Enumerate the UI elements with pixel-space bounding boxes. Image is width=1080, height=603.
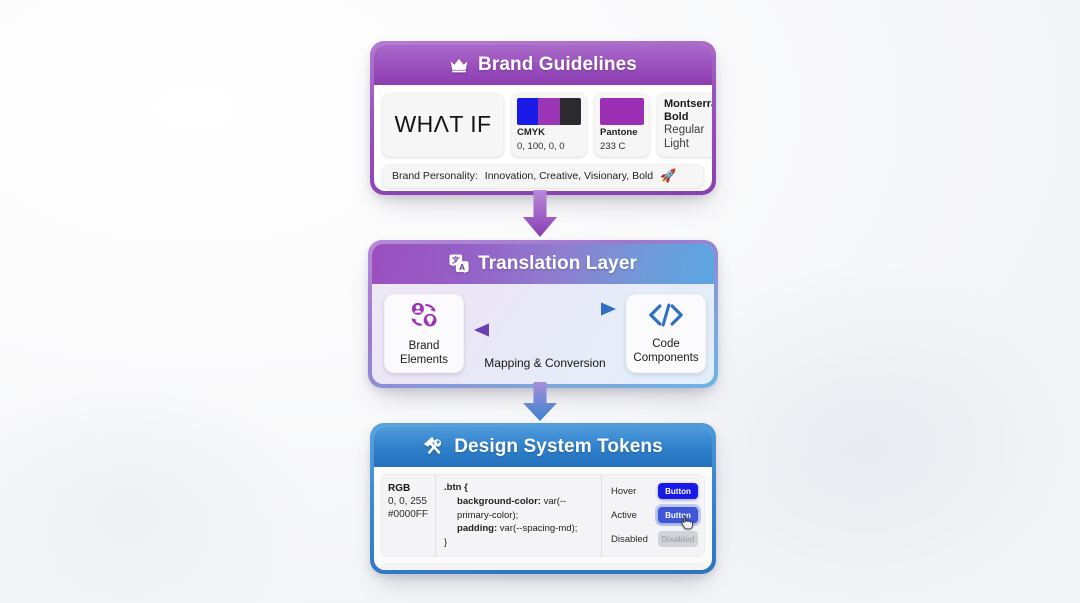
brand-elements-label-line1: Brand: [409, 340, 440, 352]
code-components-label-line2: Components: [633, 352, 698, 364]
css-code-snippet: .btn { background-color: var(--primary-c…: [436, 474, 602, 557]
brand-guidelines-card[interactable]: Brand Guidelines WHΛT IF: [370, 41, 716, 195]
rgb-hex: #0000FF: [388, 508, 428, 521]
state-row-active: Active Button: [611, 507, 698, 523]
cmyk-swatch-tile: CMYK 0, 100, 0, 0: [511, 93, 587, 157]
brand-personality-values: Innovation, Creative, Visionary, Bold: [485, 170, 653, 182]
translation-layer-header: 文 A Translation Layer: [372, 244, 714, 284]
design-system-tokens-card-inner: Design System Tokens RGB 0, 0, 255 #0000…: [374, 427, 712, 570]
brand-personality-row: Brand Personality: Innovation, Creative,…: [382, 164, 704, 188]
brand-elements-node[interactable]: Brand Elements: [384, 294, 464, 373]
code-components-label: Code Components: [633, 338, 698, 365]
brand-logo-text: WHΛT IF: [395, 111, 492, 138]
state-row-disabled: Disabled Disabled: [611, 531, 698, 547]
rocket-icon: 🚀: [660, 168, 676, 184]
spacing-tokens-row: Spacing: xs (4px), sm (8px), md (16px), …: [381, 563, 705, 570]
rgb-value: 0, 0, 255: [388, 495, 428, 508]
logo-triangle-glyph: Λ: [434, 111, 450, 138]
code-line-2: background-color: var(--primary-color);: [444, 495, 593, 523]
code-components-label-line1: Code: [652, 338, 680, 350]
pantone-value: 233 C: [600, 142, 644, 153]
translation-layer-body: Brand Elements: [372, 284, 714, 384]
connector-brand-to-translation: [519, 190, 561, 238]
typography-tile: Montserrat: Bold Regular Light: [657, 93, 712, 157]
brand-guidelines-body: WHΛT IF CMYK 0, 100, 0, 0: [374, 85, 712, 191]
button-active-preview[interactable]: Button: [658, 507, 698, 523]
state-label-active: Active: [611, 510, 651, 521]
pantone-swatch-row: [600, 98, 644, 125]
translation-layer-title: Translation Layer: [478, 253, 637, 275]
logo-part-2: T IF: [449, 111, 491, 137]
cmyk-label: CMYK: [517, 128, 581, 139]
cmyk-value: 0, 100, 0, 0: [517, 142, 581, 153]
brand-assets-row: WHΛT IF CMYK 0, 100, 0, 0: [382, 93, 704, 157]
code-val-padding: var(--spacing-md);: [500, 523, 578, 534]
code-selector: .btn {: [444, 482, 468, 493]
design-system-tokens-body: RGB 0, 0, 255 #0000FF .btn { background-…: [374, 467, 712, 570]
tokens-detail-row: RGB 0, 0, 255 #0000FF .btn { background-…: [381, 474, 705, 557]
cmyk-swatch-black: [560, 98, 581, 125]
bidirectional-arrows: [470, 299, 620, 345]
font-weight-bold: Bold: [664, 111, 712, 124]
crown-icon: [449, 57, 469, 73]
brand-elements-label: Brand Elements: [400, 340, 448, 367]
code-brackets-icon: [648, 302, 684, 333]
button-hover-preview[interactable]: Button: [658, 483, 698, 499]
state-row-hover: Hover Button: [611, 483, 698, 499]
code-components-node[interactable]: Code Components: [626, 294, 706, 373]
button-states-cell: Hover Button Active Button: [602, 474, 705, 557]
diagram-canvas: Brand Guidelines WHΛT IF: [0, 0, 1080, 603]
hammer-and-wrench-icon: [423, 437, 445, 457]
rgb-token-cell: RGB 0, 0, 255 #0000FF: [381, 474, 436, 557]
brand-guidelines-header: Brand Guidelines: [374, 45, 712, 85]
brand-personality-label: Brand Personality:: [392, 170, 478, 182]
brand-guidelines-title: Brand Guidelines: [478, 54, 637, 76]
design-system-tokens-header: Design System Tokens: [374, 427, 712, 467]
translate-icon: 文 A: [449, 254, 469, 274]
button-active-label: Button: [665, 511, 691, 520]
cmyk-swatch-blue: [517, 98, 538, 125]
brand-logo-tile: WHΛT IF: [382, 93, 504, 157]
state-label-disabled: Disabled: [611, 534, 651, 545]
font-weight-regular: Regular: [664, 124, 712, 138]
design-system-tokens-title: Design System Tokens: [454, 436, 663, 458]
pantone-swatch-tile: Pantone 233 C: [594, 93, 650, 157]
logo-part-1: WH: [395, 111, 434, 137]
pantone-swatch: [600, 98, 644, 125]
state-label-hover: Hover: [611, 486, 651, 497]
mapping-conversion-label: Mapping & Conversion: [484, 356, 605, 370]
code-line-4: }: [444, 536, 593, 550]
code-prop-background-color: background-color:: [457, 496, 541, 507]
code-line-1: .btn {: [444, 481, 593, 495]
translation-layer-card-inner: 文 A Translation Layer: [372, 244, 714, 384]
cmyk-swatch-purple: [538, 98, 559, 125]
connector-translation-to-tokens: [519, 382, 561, 422]
button-disabled-preview: Disabled: [658, 531, 698, 547]
cmyk-swatch-row: [517, 98, 581, 125]
code-prop-padding: padding:: [457, 523, 497, 534]
svg-text:A: A: [459, 263, 465, 272]
font-family-label: Montserrat:: [664, 98, 712, 111]
design-system-tokens-card[interactable]: Design System Tokens RGB 0, 0, 255 #0000…: [370, 423, 716, 574]
translation-layer-card[interactable]: 文 A Translation Layer: [368, 240, 718, 388]
pantone-label: Pantone: [600, 128, 644, 139]
font-weight-light: Light: [664, 138, 712, 152]
rgb-title: RGB: [388, 482, 428, 495]
mapping-arrows-group: Mapping & Conversion: [470, 294, 620, 373]
code-line-3: padding: var(--spacing-md);: [444, 522, 593, 536]
brand-elements-label-line2: Elements: [400, 354, 448, 366]
brand-elements-icon: [407, 300, 441, 335]
brand-guidelines-card-inner: Brand Guidelines WHΛT IF: [374, 45, 712, 191]
